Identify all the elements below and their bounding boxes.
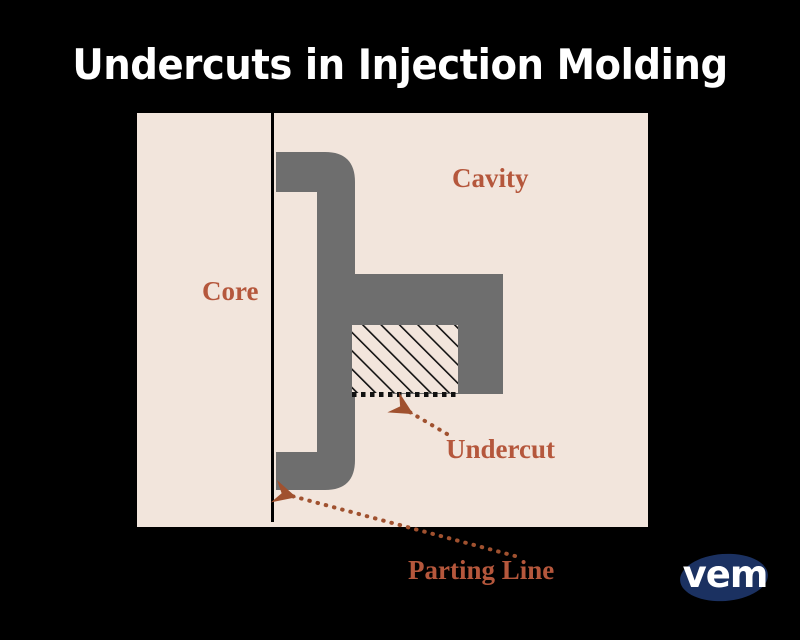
undercut-hatch-region (352, 325, 458, 393)
undercut-leader-arrow (396, 404, 447, 434)
diagram-graphic (0, 0, 800, 640)
label-parting-line: Parting Line (408, 555, 554, 586)
slide-canvas: Undercuts in Injection Molding (0, 0, 800, 640)
label-cavity: Cavity (452, 163, 529, 194)
label-core: Core (202, 276, 258, 307)
label-undercut: Undercut (446, 434, 555, 465)
parting-line-leader-arrow (277, 492, 515, 556)
logo-wordmark: vem (672, 553, 778, 597)
vem-logo: vem (672, 548, 778, 608)
